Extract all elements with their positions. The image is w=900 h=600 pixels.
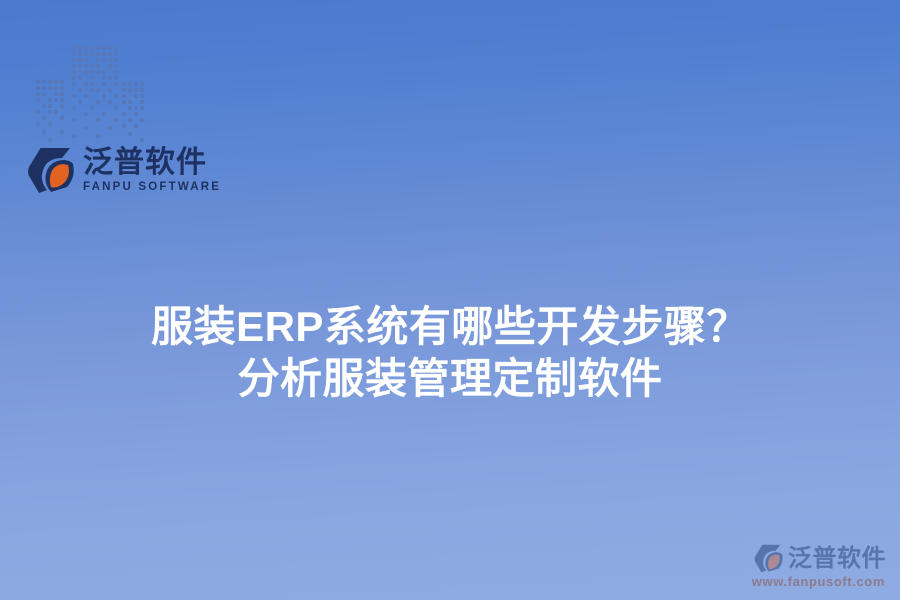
page-title-line-1: 服装ERP系统有哪些开发步骤？ — [0, 301, 900, 353]
watermark-logo: 泛普软件 — [754, 544, 886, 573]
fanpu-hexagon-logo-icon — [754, 544, 784, 573]
fanpu-hexagon-logo-icon — [27, 147, 76, 194]
poster-canvas: 泛普软件 FANPU SOFTWARE 服装ERP系统有哪些开发步骤？ 分析服装… — [0, 0, 900, 600]
brand-name-en: FANPU SOFTWARE — [83, 182, 221, 194]
brand-logo: 泛普软件 FANPU SOFTWARE — [27, 147, 221, 194]
brand-name-cn: 泛普软件 — [83, 148, 221, 178]
watermark-url: www.fanpusoft.com — [752, 575, 885, 588]
brand-wordmark: 泛普软件 FANPU SOFTWARE — [83, 148, 221, 194]
watermark-name-cn: 泛普软件 — [788, 547, 886, 571]
watermark: 泛普软件 www.fanpusoft.com — [752, 544, 886, 588]
page-title-line-2: 分析服装管理定制软件 — [0, 353, 900, 405]
page-title: 服装ERP系统有哪些开发步骤？ 分析服装管理定制软件 — [0, 301, 900, 405]
pixelated-city-skyline-icon — [34, 42, 146, 146]
